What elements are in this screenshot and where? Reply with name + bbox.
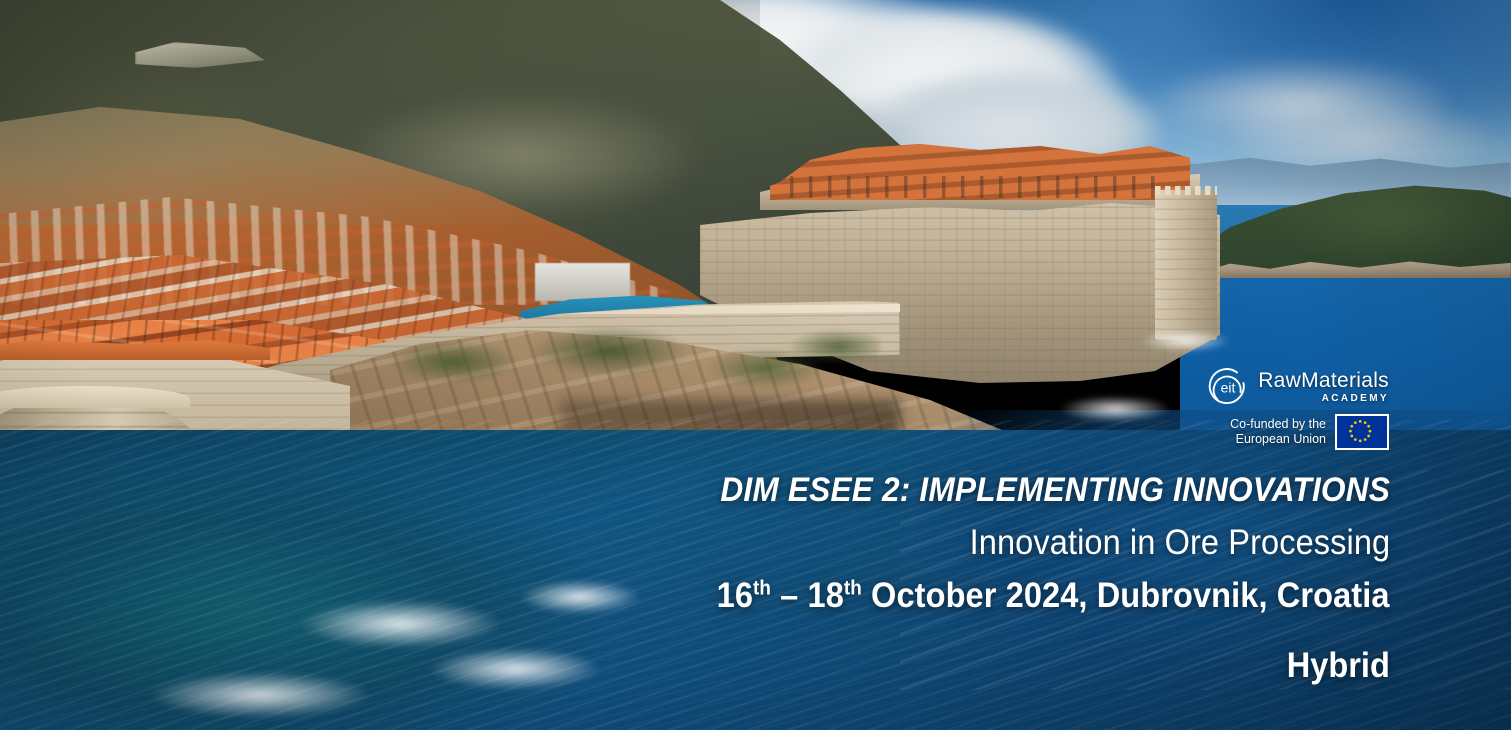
surf-foam: [1140, 330, 1230, 352]
event-date-day-start: 16: [717, 576, 753, 615]
fortress-battlements: [1155, 186, 1217, 195]
eu-funding-badge: Co-funded by the European Union: [1230, 414, 1389, 450]
event-date-rest: October 2024, Dubrovnik, Croatia: [862, 576, 1390, 615]
event-date-day-end: 18: [808, 576, 844, 615]
event-date-day-end-suffix: th: [844, 578, 862, 600]
eit-rawmaterials-logo-lockup: eit RawMaterials ACADEMY Co-funded by th…: [1199, 366, 1389, 450]
building-windows: [790, 176, 1170, 198]
eu-funding-line-2: European Union: [1230, 432, 1326, 447]
svg-text:eit: eit: [1221, 380, 1236, 396]
academy-brand-text: ACADEMY: [1322, 394, 1389, 404]
fort-bokar-parapet: [0, 386, 190, 408]
event-date: 16th – 18th October 2024, Dubrovnik, Cro…: [717, 575, 1390, 616]
surf-foam: [150, 672, 370, 718]
eu-flag-stars: [1337, 416, 1387, 448]
european-union-flag-icon: [1335, 414, 1389, 450]
event-date-day-start-suffix: th: [753, 578, 771, 600]
eit-circle-icon: eit: [1207, 366, 1249, 408]
event-format-badge: Hybrid: [1287, 645, 1390, 686]
eu-funding-text: Co-funded by the European Union: [1230, 417, 1326, 448]
eu-funding-line-1: Co-funded by the: [1230, 417, 1326, 432]
surf-foam: [1060, 396, 1170, 422]
event-text-block: DIM ESEE 2: IMPLEMENTING INNOVATIONS Inn…: [410, 470, 1390, 686]
rawmaterials-brand-text: RawMaterials: [1258, 370, 1389, 391]
eit-rawmaterials-logo: eit RawMaterials ACADEMY: [1207, 366, 1389, 408]
event-title: DIM ESEE 2: IMPLEMENTING INNOVATIONS: [720, 470, 1390, 510]
rawmaterials-wordmark: RawMaterials ACADEMY: [1258, 370, 1389, 404]
fortress-tower: [1155, 190, 1217, 340]
modern-building: [535, 263, 630, 301]
event-subtitle: Innovation in Ore Processing: [969, 522, 1390, 563]
event-date-separator: –: [781, 576, 799, 615]
event-banner: eit RawMaterials ACADEMY Co-funded by th…: [0, 0, 1511, 730]
